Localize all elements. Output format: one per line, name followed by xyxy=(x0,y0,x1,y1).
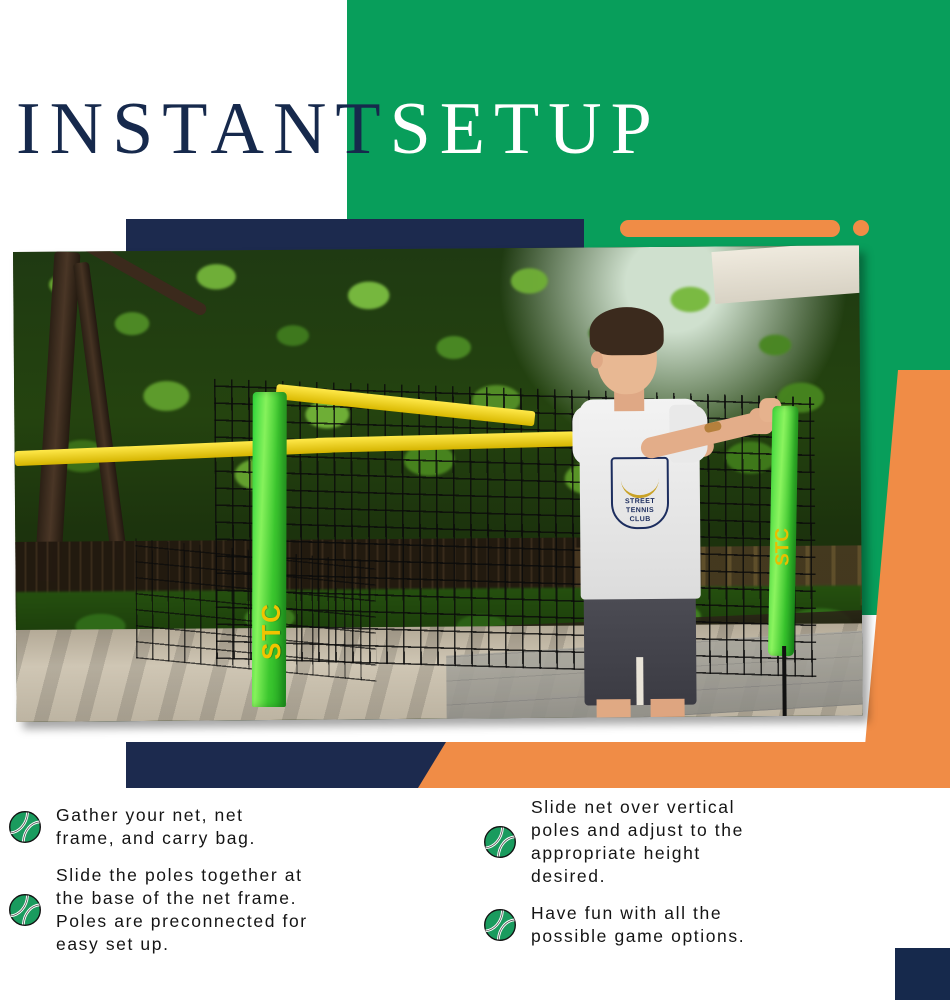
steps-column-right: Slide net over vertical poles and adjust… xyxy=(475,796,950,986)
infographic-stage: INSTANTSETUP STC xyxy=(0,0,950,1000)
photo-person-shorts-gap xyxy=(636,657,643,705)
photo-stc-logo-right: STC xyxy=(772,506,794,566)
shirt-crest-line-1: STREET TENNIS xyxy=(625,498,655,514)
photo-person-leg-left xyxy=(597,699,631,721)
photo-stc-logo-left: STC xyxy=(256,570,287,660)
shirt-crest-line-2: CLUB xyxy=(630,516,651,523)
tennis-ball-icon xyxy=(8,893,42,927)
list-item: Slide the poles together at the base of … xyxy=(8,864,475,956)
list-item: Slide net over vertical poles and adjust… xyxy=(483,796,950,888)
tennis-ball-icon xyxy=(483,825,517,859)
photo-shirt-crest: STREET TENNIS CLUB xyxy=(611,457,670,529)
title-segment-2: NT xyxy=(273,88,390,170)
hero-photo: STC STREET TENNIS CLUB STC xyxy=(13,245,863,722)
hero-photo-canvas: STC STREET TENNIS CLUB STC xyxy=(13,245,863,722)
list-item: Have fun with all the possible game opti… xyxy=(483,902,950,948)
steps-section: Gather your net, net frame, and carry ba… xyxy=(0,796,950,986)
photo-person-hair xyxy=(589,307,663,356)
photo-person-leg-right xyxy=(651,699,685,721)
title-segment-3: SETUP xyxy=(390,88,661,170)
tennis-ball-icon xyxy=(483,908,517,942)
title-segment-1: INSTA xyxy=(16,88,273,170)
step-text: Slide the poles together at the base of … xyxy=(56,864,308,956)
tennis-ball-icon xyxy=(8,810,42,844)
orange-accent-dot xyxy=(853,220,869,236)
step-text: Slide net over vertical poles and adjust… xyxy=(531,796,744,888)
steps-column-left: Gather your net, net frame, and carry ba… xyxy=(0,796,475,986)
step-text: Gather your net, net frame, and carry ba… xyxy=(56,804,256,850)
list-item: Gather your net, net frame, and carry ba… xyxy=(8,804,475,850)
orange-accent-bar xyxy=(620,220,840,237)
photo-person-ear xyxy=(591,351,603,368)
page-title: INSTANTSETUP xyxy=(16,86,916,172)
photo-vertical-pole-right xyxy=(782,646,787,716)
navy-accent-bar-bottom xyxy=(126,742,446,788)
step-text: Have fun with all the possible game opti… xyxy=(531,902,745,948)
